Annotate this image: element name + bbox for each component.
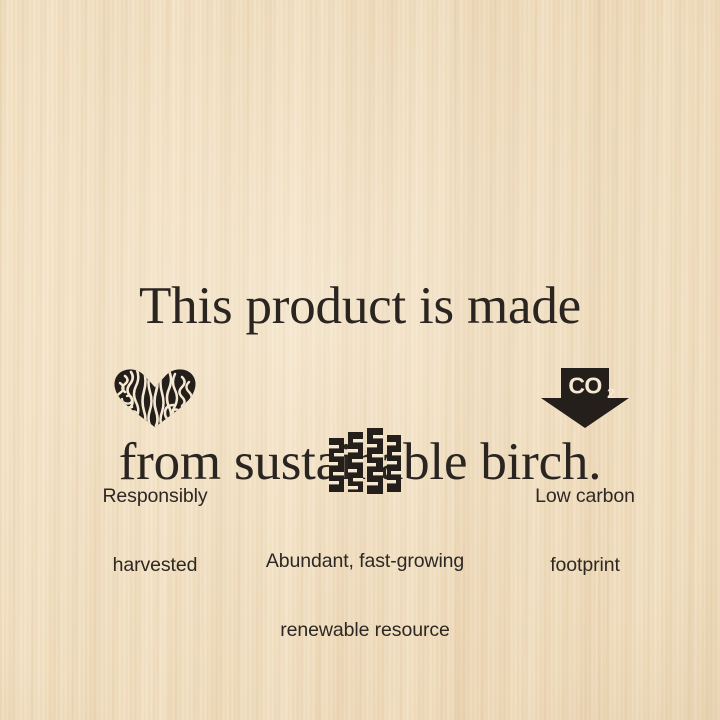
feature-renewable-resource: Abundant, fast-growing renewable resourc…	[246, 420, 484, 688]
feature-responsibly-harvested: Responsibly harvested	[36, 360, 274, 623]
caption-line-1: Low carbon	[466, 485, 704, 508]
caption-line-1: Responsibly	[36, 485, 274, 508]
co2-subscript: 2	[607, 385, 615, 401]
birch-product-label: This product is made from sustainable bi…	[0, 0, 720, 720]
feature-caption: Abundant, fast-growing renewable resourc…	[246, 504, 484, 688]
icon-container	[36, 360, 274, 428]
feature-caption: Low carbon footprint	[466, 439, 704, 623]
feature-caption: Responsibly harvested	[36, 439, 274, 623]
caption-line-1: Abundant, fast-growing	[246, 550, 484, 573]
caption-line-2: harvested	[36, 554, 274, 577]
co2-down-arrow-icon: CO 2	[541, 368, 629, 428]
caption-line-2: footprint	[466, 554, 704, 577]
feature-low-carbon-footprint: CO 2 Low carbon footprint	[466, 360, 704, 623]
wood-grain-heart-icon	[111, 368, 199, 428]
stacked-logs-bars-icon	[329, 428, 401, 494]
icon-container: CO 2	[466, 360, 704, 428]
icon-container	[246, 420, 484, 494]
co2-label: CO	[568, 373, 601, 399]
headline-line-1: This product is made	[0, 280, 720, 332]
caption-line-2: renewable resource	[246, 619, 484, 642]
